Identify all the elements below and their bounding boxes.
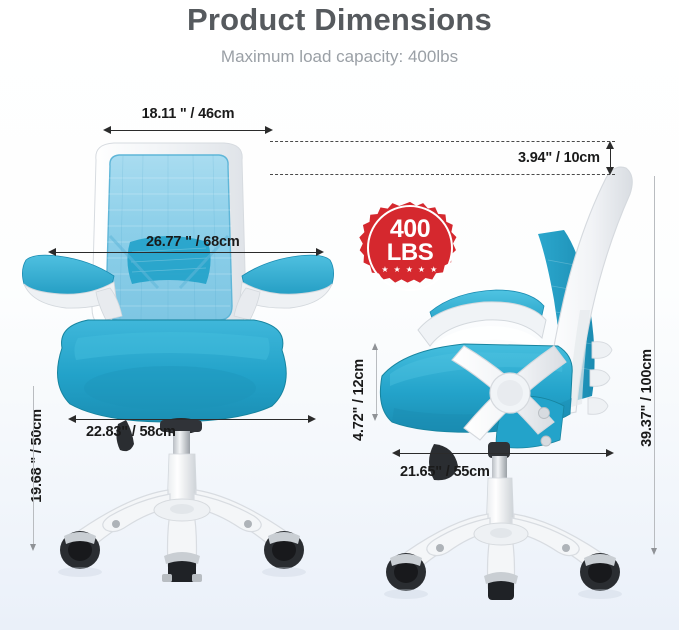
dimension-arrow-base-width-side — [392, 449, 614, 458]
dimension-arrow-overall-width — [48, 248, 324, 257]
badge-inner-ring: 400 LBS ★ ★ ★ ★ ★ — [367, 205, 453, 291]
badge-stars: ★ ★ ★ ★ ★ — [381, 266, 438, 274]
guide-line-armrest-top — [270, 141, 615, 142]
badge-value: 400 — [390, 218, 430, 242]
page-title: Product Dimensions — [0, 2, 679, 38]
office-chair-front-view — [18, 138, 338, 583]
dimension-arrow-backrest-width — [103, 126, 273, 135]
page-subtitle: Maximum load capacity: 400lbs — [0, 47, 679, 67]
dimension-label-base-width-side: 21.65" / 55cm — [400, 464, 490, 480]
dimension-label-base-width-front: 22.83" / 58cm — [86, 424, 176, 440]
dimension-label-armrest-pad-height: 4.72" / 12cm — [351, 347, 367, 453]
guide-line-armrest-bottom — [270, 174, 615, 175]
dimension-label-backrest-width: 18.11 " / 46cm — [103, 106, 273, 122]
dimension-arrow-base-width-front — [68, 415, 316, 424]
dimension-arrow-overall-height — [650, 176, 658, 556]
badge-unit: LBS — [387, 241, 434, 265]
infographic-canvas: Product Dimensions Maximum load capacity… — [0, 0, 679, 630]
dimension-arrow-seat-height — [29, 386, 37, 552]
dimension-label-armrest-height: 3.94" / 10cm — [518, 150, 600, 166]
dimension-arrow-armrest-pad-height — [372, 343, 380, 421]
dimension-arrow-armrest-height — [606, 141, 615, 175]
load-capacity-badge: 400 LBS ★ ★ ★ ★ ★ — [360, 198, 460, 298]
